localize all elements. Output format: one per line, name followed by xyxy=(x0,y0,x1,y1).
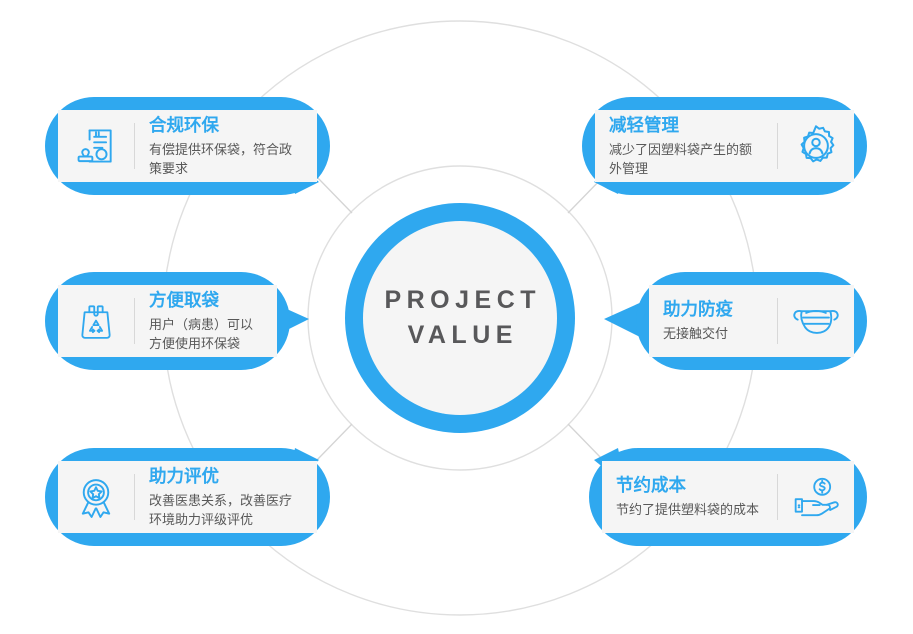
hand-money-icon xyxy=(778,476,854,518)
card-title: 助力防疫 xyxy=(663,298,763,321)
card-compliance-text: 合规环保 有偿提供环保袋，符合政策要求 xyxy=(135,114,317,179)
card-convenient[interactable]: 方便取袋 用户（病患）可以方便使用环保袋 xyxy=(45,272,290,370)
recycle-bag-icon xyxy=(58,300,134,342)
center-title-line1: PROJECT xyxy=(379,283,541,319)
award-medal-icon xyxy=(58,475,134,519)
center-title-line2: VALUE xyxy=(402,318,518,354)
gear-person-icon xyxy=(778,123,854,169)
center-hub: PROJECT VALUE xyxy=(345,203,575,433)
connector-line-top-left xyxy=(316,176,352,213)
card-epidemic-text: 助力防疫 无接触交付 xyxy=(649,298,777,344)
card-manage-text: 减轻管理 减少了因塑料袋产生的额外管理 xyxy=(595,114,777,179)
connector-line-bottom-right xyxy=(568,424,604,461)
card-description: 节约了提供塑料袋的成本 xyxy=(616,501,763,520)
center-hub-inner: PROJECT VALUE xyxy=(363,221,557,415)
card-title: 节约成本 xyxy=(616,474,763,497)
face-mask-icon xyxy=(778,301,854,341)
card-description: 改善医患关系，改善医疗环境助力评级评优 xyxy=(149,492,303,530)
card-description: 有偿提供环保袋，符合政策要求 xyxy=(149,141,303,179)
card-rating-body: 助力评优 改善医患关系，改善医疗环境助力评级评优 xyxy=(58,461,317,533)
card-epidemic[interactable]: 助力防疫 无接触交付 xyxy=(636,272,867,370)
card-cost[interactable]: 节约成本 节约了提供塑料袋的成本 xyxy=(589,448,867,546)
infographic-canvas: 合规环保 有偿提供环保袋，符合政策要求 减轻管理 减少了因塑料袋产生的额外管理 xyxy=(0,0,913,634)
document-stamp-icon xyxy=(58,124,134,168)
card-convenient-body: 方便取袋 用户（病患）可以方便使用环保袋 xyxy=(58,285,277,357)
card-rating-text: 助力评优 改善医患关系，改善医疗环境助力评级评优 xyxy=(135,465,317,530)
card-description: 用户（病患）可以方便使用环保袋 xyxy=(149,316,263,354)
connector-line-bottom-left xyxy=(316,424,352,461)
card-title: 助力评优 xyxy=(149,465,303,488)
card-title: 减轻管理 xyxy=(609,114,763,137)
card-description: 减少了因塑料袋产生的额外管理 xyxy=(609,141,763,179)
card-cost-body: 节约成本 节约了提供塑料袋的成本 xyxy=(602,461,854,533)
card-manage[interactable]: 减轻管理 减少了因塑料袋产生的额外管理 xyxy=(582,97,867,195)
card-compliance-body: 合规环保 有偿提供环保袋，符合政策要求 xyxy=(58,110,317,182)
card-title: 方便取袋 xyxy=(149,289,263,312)
card-title: 合规环保 xyxy=(149,114,303,137)
card-rating[interactable]: 助力评优 改善医患关系，改善医疗环境助力评级评优 xyxy=(45,448,330,546)
card-manage-body: 减轻管理 减少了因塑料袋产生的额外管理 xyxy=(595,110,854,182)
card-epidemic-body: 助力防疫 无接触交付 xyxy=(649,285,854,357)
card-cost-text: 节约成本 节约了提供塑料袋的成本 xyxy=(602,474,777,520)
card-description: 无接触交付 xyxy=(663,325,763,344)
card-compliance[interactable]: 合规环保 有偿提供环保袋，符合政策要求 xyxy=(45,97,330,195)
card-convenient-text: 方便取袋 用户（病患）可以方便使用环保袋 xyxy=(135,289,277,354)
